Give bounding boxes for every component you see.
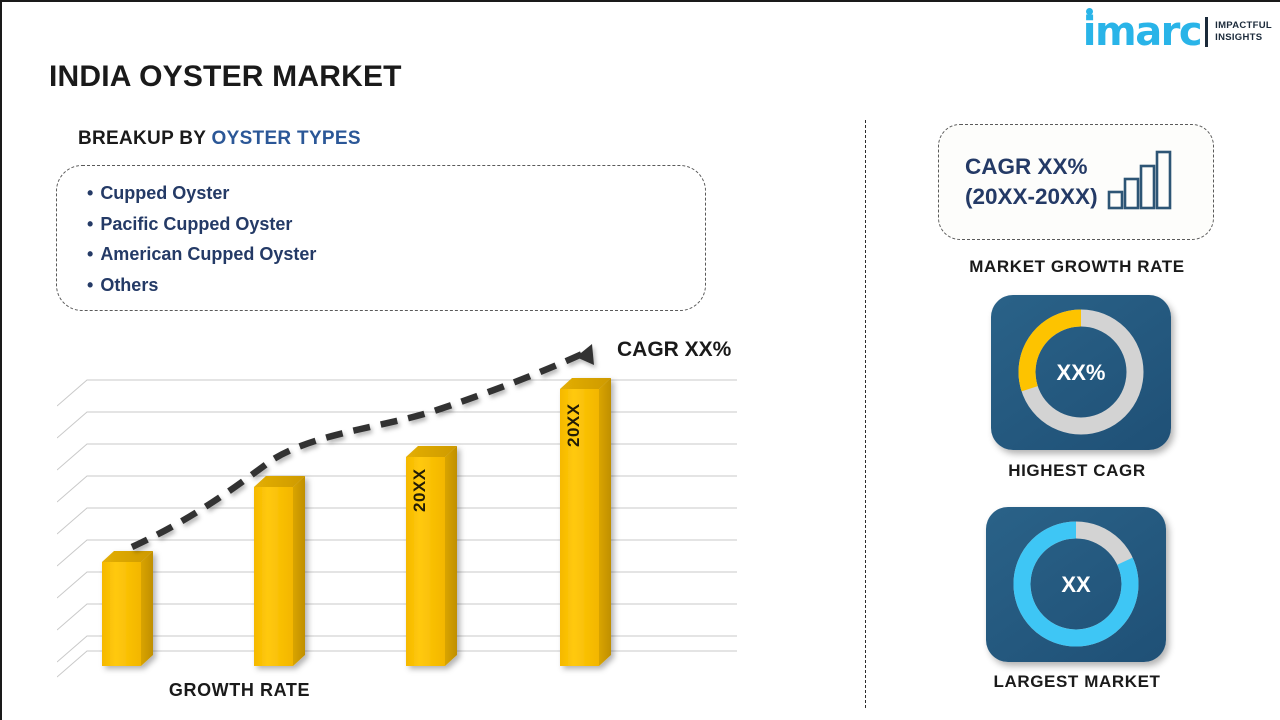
bar-chart-icon: [1106, 149, 1174, 216]
highest-cagr-card: XX%: [991, 295, 1171, 450]
chart-x-axis-label-text: GROWTH RATE: [169, 680, 310, 700]
list-item-label: Others: [100, 275, 158, 295]
breakup-highlight: OYSTER TYPES: [212, 128, 361, 149]
chart-trend-arrow: [132, 344, 594, 547]
oyster-types-list: •Cupped Oyster •Pacific Cupped Oyster •A…: [87, 178, 705, 300]
market-growth-rate-box: CAGR XX% (20XX-20XX): [938, 124, 1214, 240]
logo-tagline-line2: INSIGHTS: [1215, 32, 1272, 44]
chart-x-axis-label: GROWTH RATE: [57, 680, 757, 701]
bar-label: 20XX: [410, 472, 430, 512]
list-item-label: American Cupped Oyster: [100, 244, 316, 264]
logo-tagline: IMPACTFUL INSIGHTS: [1215, 20, 1272, 44]
breakup-prefix: BREAKUP BY: [78, 128, 212, 149]
bullet-icon: •: [87, 275, 93, 295]
logo-wordmark-text: imarc: [1083, 9, 1201, 55]
growth-rate-chart: 20XX 20XX CAGR XX% GROWTH RATE: [57, 332, 757, 707]
list-item: •American Cupped Oyster: [87, 239, 705, 270]
imarc-logo: imarc IMPACTFUL INSIGHTS: [1083, 10, 1272, 54]
section-divider: [865, 120, 866, 708]
list-item: •Others: [87, 270, 705, 301]
bullet-icon: •: [87, 183, 93, 203]
highest-cagr-caption: HIGHEST CAGR: [912, 461, 1242, 481]
bullet-icon: •: [87, 244, 93, 264]
logo-dot-icon: [1086, 8, 1093, 15]
largest-market-card: XX: [986, 507, 1166, 662]
list-item-label: Pacific Cupped Oyster: [100, 214, 292, 234]
logo-tagline-line1: IMPACTFUL: [1215, 20, 1272, 32]
oyster-types-box: •Cupped Oyster •Pacific Cupped Oyster •A…: [56, 165, 706, 311]
infographic-page: imarc IMPACTFUL INSIGHTS INDIA OYSTER MA…: [0, 0, 1280, 720]
market-growth-rate-caption: MARKET GROWTH RATE: [912, 257, 1242, 277]
cagr-value: CAGR XX%: [965, 152, 1098, 182]
chart-bar: [254, 476, 305, 666]
page-title: INDIA OYSTER MARKET: [49, 60, 402, 94]
cagr-text: CAGR XX% (20XX-20XX): [965, 152, 1098, 212]
list-item: •Pacific Cupped Oyster: [87, 209, 705, 240]
largest-market-donut: [986, 507, 1166, 662]
chart-gridlines: [57, 380, 737, 677]
chart-cagr-label: CAGR XX%: [617, 338, 731, 362]
chart-svg: [57, 332, 757, 682]
largest-market-caption: LARGEST MARKET: [912, 672, 1242, 692]
chart-bar: [102, 551, 153, 666]
list-item: •Cupped Oyster: [87, 178, 705, 209]
logo-divider: [1205, 17, 1208, 47]
logo-wordmark: imarc: [1083, 12, 1201, 52]
list-item-label: Cupped Oyster: [100, 183, 229, 203]
breakup-heading: BREAKUP BY OYSTER TYPES: [78, 128, 361, 150]
cagr-period: (20XX-20XX): [965, 182, 1098, 212]
bar-label: 20XX: [564, 407, 584, 447]
highest-cagr-donut: [991, 295, 1171, 450]
bullet-icon: •: [87, 214, 93, 234]
